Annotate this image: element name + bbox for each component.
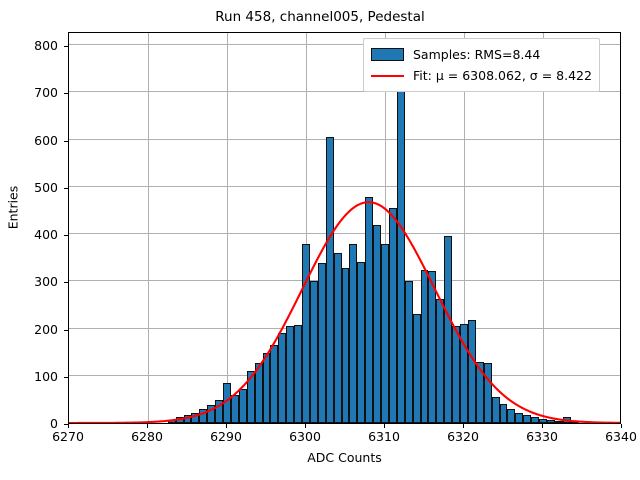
x-axis-tick xyxy=(621,424,622,428)
legend-item-fit: Fit: μ = 6308.062, σ = 8.422 xyxy=(371,65,592,86)
x-axis-tick-label: 6300 xyxy=(275,429,335,444)
y-axis-tick-label: 700 xyxy=(0,85,58,100)
y-axis-tick xyxy=(64,424,68,425)
x-axis-tick xyxy=(68,424,69,428)
legend-line-icon xyxy=(371,75,404,77)
x-axis-tick-label: 6320 xyxy=(433,429,493,444)
legend: Samples: RMS=8.44 Fit: μ = 6308.062, σ =… xyxy=(363,38,600,92)
y-axis-tick-label: 0 xyxy=(0,416,58,431)
y-axis-tick xyxy=(64,93,68,94)
x-axis-tick-label: 6340 xyxy=(591,429,640,444)
y-axis-label: Entries xyxy=(6,118,21,298)
y-axis-tick-label: 800 xyxy=(0,38,58,53)
x-axis-tick-label: 6330 xyxy=(512,429,572,444)
x-axis-tick xyxy=(147,424,148,428)
x-axis-tick xyxy=(542,424,543,428)
y-axis-tick xyxy=(64,282,68,283)
x-axis-tick xyxy=(463,424,464,428)
x-axis-tick xyxy=(226,424,227,428)
legend-item-samples: Samples: RMS=8.44 xyxy=(371,44,592,65)
page-title: Run 458, channel005, Pedestal xyxy=(0,9,640,25)
y-axis-tick xyxy=(64,377,68,378)
legend-label-samples: Samples: RMS=8.44 xyxy=(413,47,540,62)
x-axis-tick-label: 6270 xyxy=(38,429,98,444)
x-axis-tick-label: 6280 xyxy=(117,429,177,444)
x-axis-tick xyxy=(384,424,385,428)
y-axis-tick-label: 100 xyxy=(0,369,58,384)
y-axis-tick xyxy=(64,188,68,189)
y-axis-tick xyxy=(64,235,68,236)
y-axis-tick xyxy=(64,46,68,47)
x-axis-tick xyxy=(305,424,306,428)
histogram-figure: Run 458, channel005, Pedestal 6270628062… xyxy=(0,0,640,480)
legend-patch-icon xyxy=(371,48,404,61)
legend-label-fit: Fit: μ = 6308.062, σ = 8.422 xyxy=(413,68,592,83)
x-axis-tick-label: 6310 xyxy=(354,429,414,444)
y-axis-tick xyxy=(64,141,68,142)
x-axis-label: ADC Counts xyxy=(68,450,621,465)
y-axis-tick-label: 200 xyxy=(0,322,58,337)
y-axis-tick xyxy=(64,330,68,331)
x-axis-tick-label: 6290 xyxy=(196,429,256,444)
